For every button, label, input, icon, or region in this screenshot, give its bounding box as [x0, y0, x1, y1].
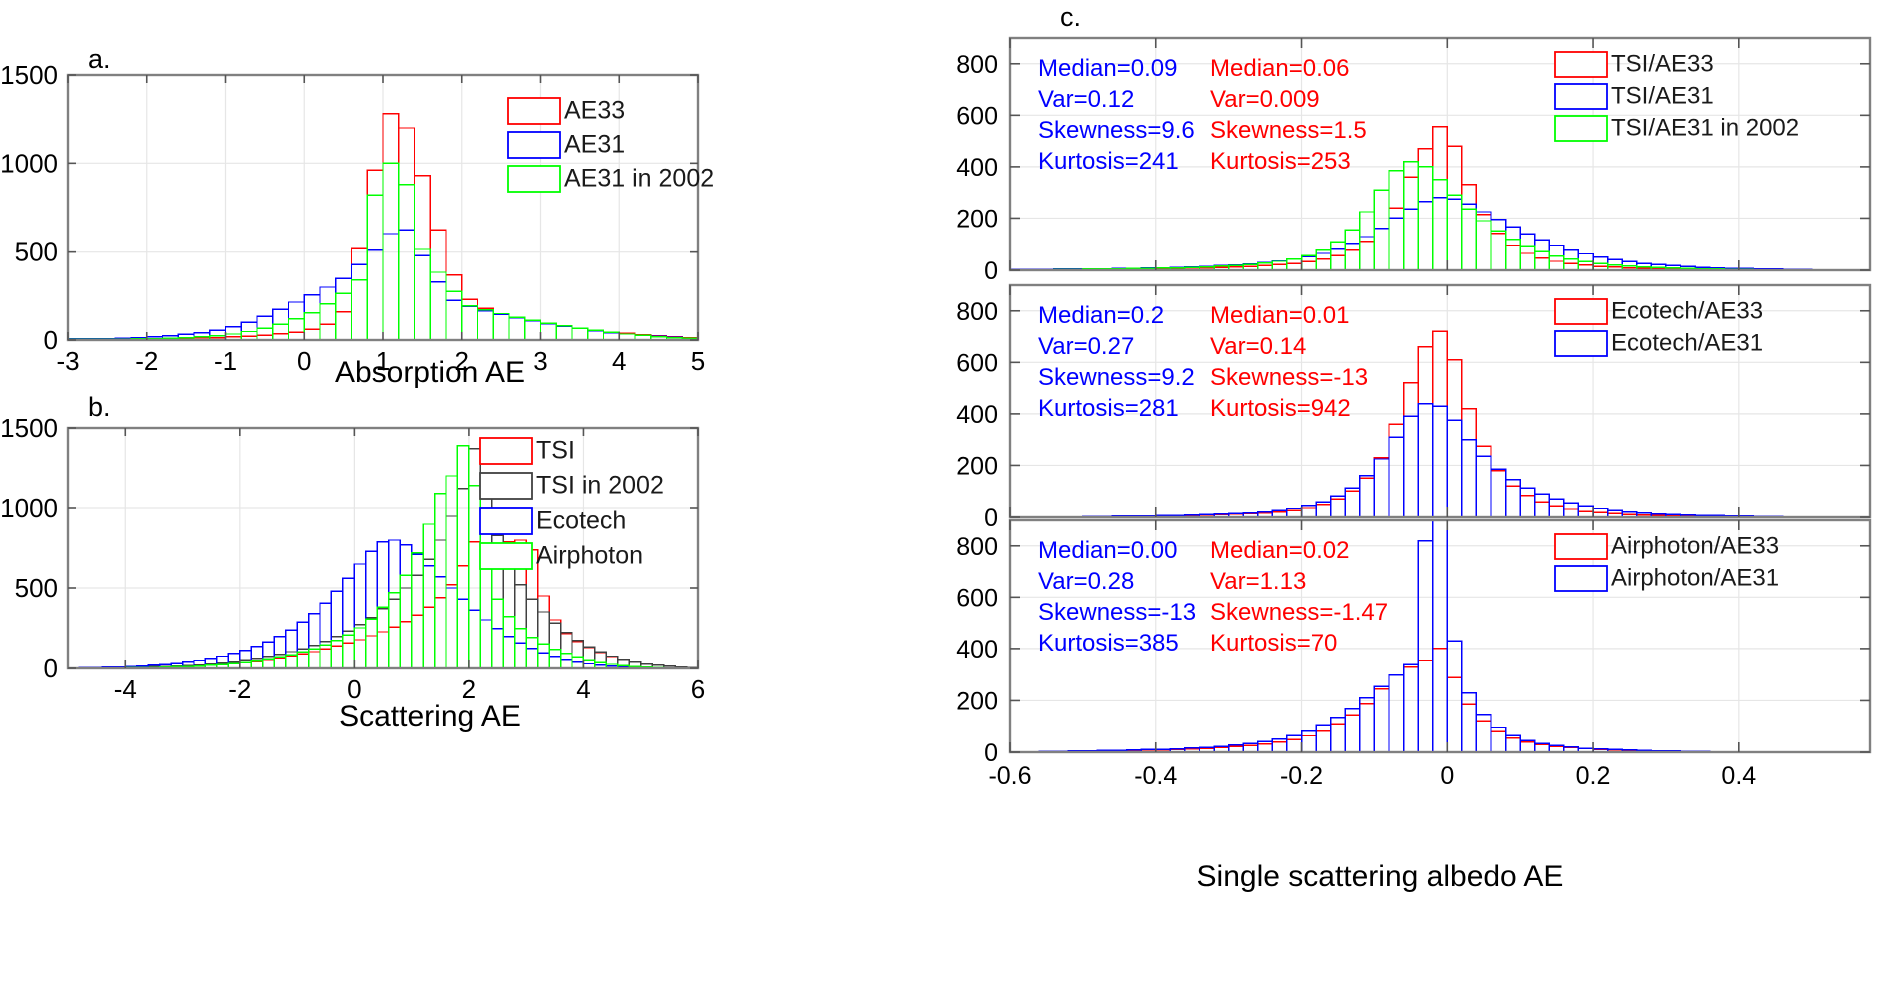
stat-annotation-red: Kurtosis=253 — [1210, 148, 1351, 175]
axis-tick-label: 200 — [956, 205, 998, 233]
legend-swatch — [480, 508, 532, 534]
axis-tick-label: 1500 — [0, 60, 58, 90]
legend-label: TSI in 2002 — [536, 471, 664, 499]
legend-swatch — [1555, 566, 1607, 591]
axis-tick-label: -0.4 — [1134, 762, 1177, 790]
axis-tick-label: 200 — [956, 687, 998, 715]
panel-b-letter: b. — [88, 392, 111, 423]
legend-swatch — [1555, 331, 1607, 356]
legend-label: AE33 — [564, 96, 625, 124]
legend-swatch — [1555, 534, 1607, 559]
panel-c-bottom-plot: 0200400600800-0.6-0.4-0.200.20.4Median=0… — [860, 518, 1892, 786]
stat-annotation-blue: Median=0.2 — [1038, 302, 1164, 329]
stat-annotation-red: Median=0.01 — [1210, 302, 1349, 329]
legend-label: Airphoton/AE31 — [1611, 565, 1779, 592]
axis-tick-label: 500 — [15, 237, 58, 267]
axis-tick-label: 1000 — [0, 493, 58, 523]
axis-tick-label: 500 — [15, 573, 58, 603]
axis-tick-label: 0.2 — [1576, 762, 1611, 790]
axis-tick-label: -3 — [56, 346, 79, 376]
stat-annotation-blue: Var=0.27 — [1038, 333, 1134, 360]
panel-a-letter: a. — [88, 44, 111, 75]
legend-label: TSI/AE31 — [1611, 83, 1714, 110]
stat-annotation-blue: Median=0.00 — [1038, 537, 1177, 564]
stat-annotation-blue: Kurtosis=385 — [1038, 630, 1179, 657]
stat-annotation-blue: Skewness=9.6 — [1038, 117, 1195, 144]
legend-swatch — [1555, 84, 1607, 109]
legend-label: Ecotech/AE33 — [1611, 298, 1763, 325]
panel-b-plot: 050010001500-4-20246TSITSI in 2002Ecotec… — [0, 400, 900, 700]
stat-annotation-blue: Var=0.28 — [1038, 568, 1134, 595]
stat-annotation-blue: Skewness=-13 — [1038, 599, 1196, 626]
stat-annotation-blue: Var=0.12 — [1038, 86, 1134, 113]
stat-annotation-red: Kurtosis=70 — [1210, 630, 1337, 657]
panel-a: 050010001500-3-2-1012345AE33AE31AE31 in … — [0, 20, 900, 400]
legend-swatch — [480, 543, 532, 569]
legend-swatch — [1555, 299, 1607, 324]
axis-tick-label: 400 — [956, 401, 998, 429]
panel-a-xlabel: Absorption AE — [130, 356, 730, 390]
stat-annotation-blue: Median=0.09 — [1038, 55, 1177, 82]
panel-c: c. 0200400600800Median=0.09Var=0.12Skewn… — [860, 0, 1892, 800]
stat-annotation-red: Var=1.13 — [1210, 568, 1306, 595]
legend-swatch — [508, 166, 560, 192]
panel-a-plot: 050010001500-3-2-1012345AE33AE31AE31 in … — [0, 20, 900, 400]
legend-label: Ecotech — [536, 506, 626, 534]
panel-b: 050010001500-4-20246TSITSI in 2002Ecotec… — [0, 400, 900, 700]
axis-tick-label: 800 — [956, 298, 998, 326]
axis-tick-label: 0 — [44, 653, 58, 683]
stat-annotation-blue: Kurtosis=281 — [1038, 395, 1179, 422]
legend-swatch — [1555, 116, 1607, 141]
stat-annotation-red: Skewness=-1.47 — [1210, 599, 1388, 626]
axis-tick-label: 1000 — [0, 148, 58, 178]
axis-tick-label: 600 — [956, 102, 998, 130]
axis-tick-label: 600 — [956, 584, 998, 612]
legend-label: Ecotech/AE31 — [1611, 330, 1763, 357]
legend-label: TSI/AE33 — [1611, 51, 1714, 78]
axis-tick-label: 400 — [956, 636, 998, 664]
legend-label: AE31 in 2002 — [564, 164, 714, 192]
axis-tick-label: 0 — [984, 257, 998, 285]
axis-tick-label: -0.6 — [988, 762, 1031, 790]
axis-tick-label: 800 — [956, 533, 998, 561]
legend-label: Airphoton/AE33 — [1611, 533, 1779, 560]
stat-annotation-red: Kurtosis=942 — [1210, 395, 1351, 422]
stat-annotation-red: Var=0.009 — [1210, 86, 1320, 113]
legend-swatch — [480, 438, 532, 464]
axis-tick-label: 800 — [956, 51, 998, 79]
stat-annotation-blue: Skewness=9.2 — [1038, 364, 1195, 391]
stat-annotation-red: Median=0.02 — [1210, 537, 1349, 564]
stat-annotation-red: Median=0.06 — [1210, 55, 1349, 82]
stat-annotation-red: Skewness=-13 — [1210, 364, 1368, 391]
axis-tick-label: 600 — [956, 349, 998, 377]
axis-tick-label: 0 — [1440, 762, 1454, 790]
axis-tick-label: -0.2 — [1280, 762, 1323, 790]
legend-swatch — [1555, 52, 1607, 77]
axis-tick-label: 200 — [956, 452, 998, 480]
legend-label: Airphoton — [536, 541, 643, 569]
panel-b-xlabel: Scattering AE — [130, 700, 730, 734]
panel-c-middle-plot: 0200400600800Median=0.2Var=0.27Skewness=… — [860, 283, 1892, 533]
legend-swatch — [480, 473, 532, 499]
stat-annotation-red: Var=0.14 — [1210, 333, 1306, 360]
panel-c-xlabel: Single scattering albedo AE — [1000, 860, 1760, 894]
legend-label: AE31 — [564, 130, 625, 158]
panel-c-top-plot: 0200400600800Median=0.09Var=0.12Skewness… — [860, 28, 1892, 298]
legend-label: TSI/AE31 in 2002 — [1611, 115, 1799, 142]
legend-swatch — [508, 132, 560, 158]
legend-label: TSI — [536, 436, 575, 464]
axis-tick-label: 0.4 — [1721, 762, 1756, 790]
figure-root: 050010001500-3-2-1012345AE33AE31AE31 in … — [0, 0, 1892, 984]
axis-tick-label: 1500 — [0, 413, 58, 443]
legend-swatch — [508, 98, 560, 124]
stat-annotation-red: Skewness=1.5 — [1210, 117, 1367, 144]
stat-annotation-blue: Kurtosis=241 — [1038, 148, 1179, 175]
axis-tick-label: 400 — [956, 154, 998, 182]
